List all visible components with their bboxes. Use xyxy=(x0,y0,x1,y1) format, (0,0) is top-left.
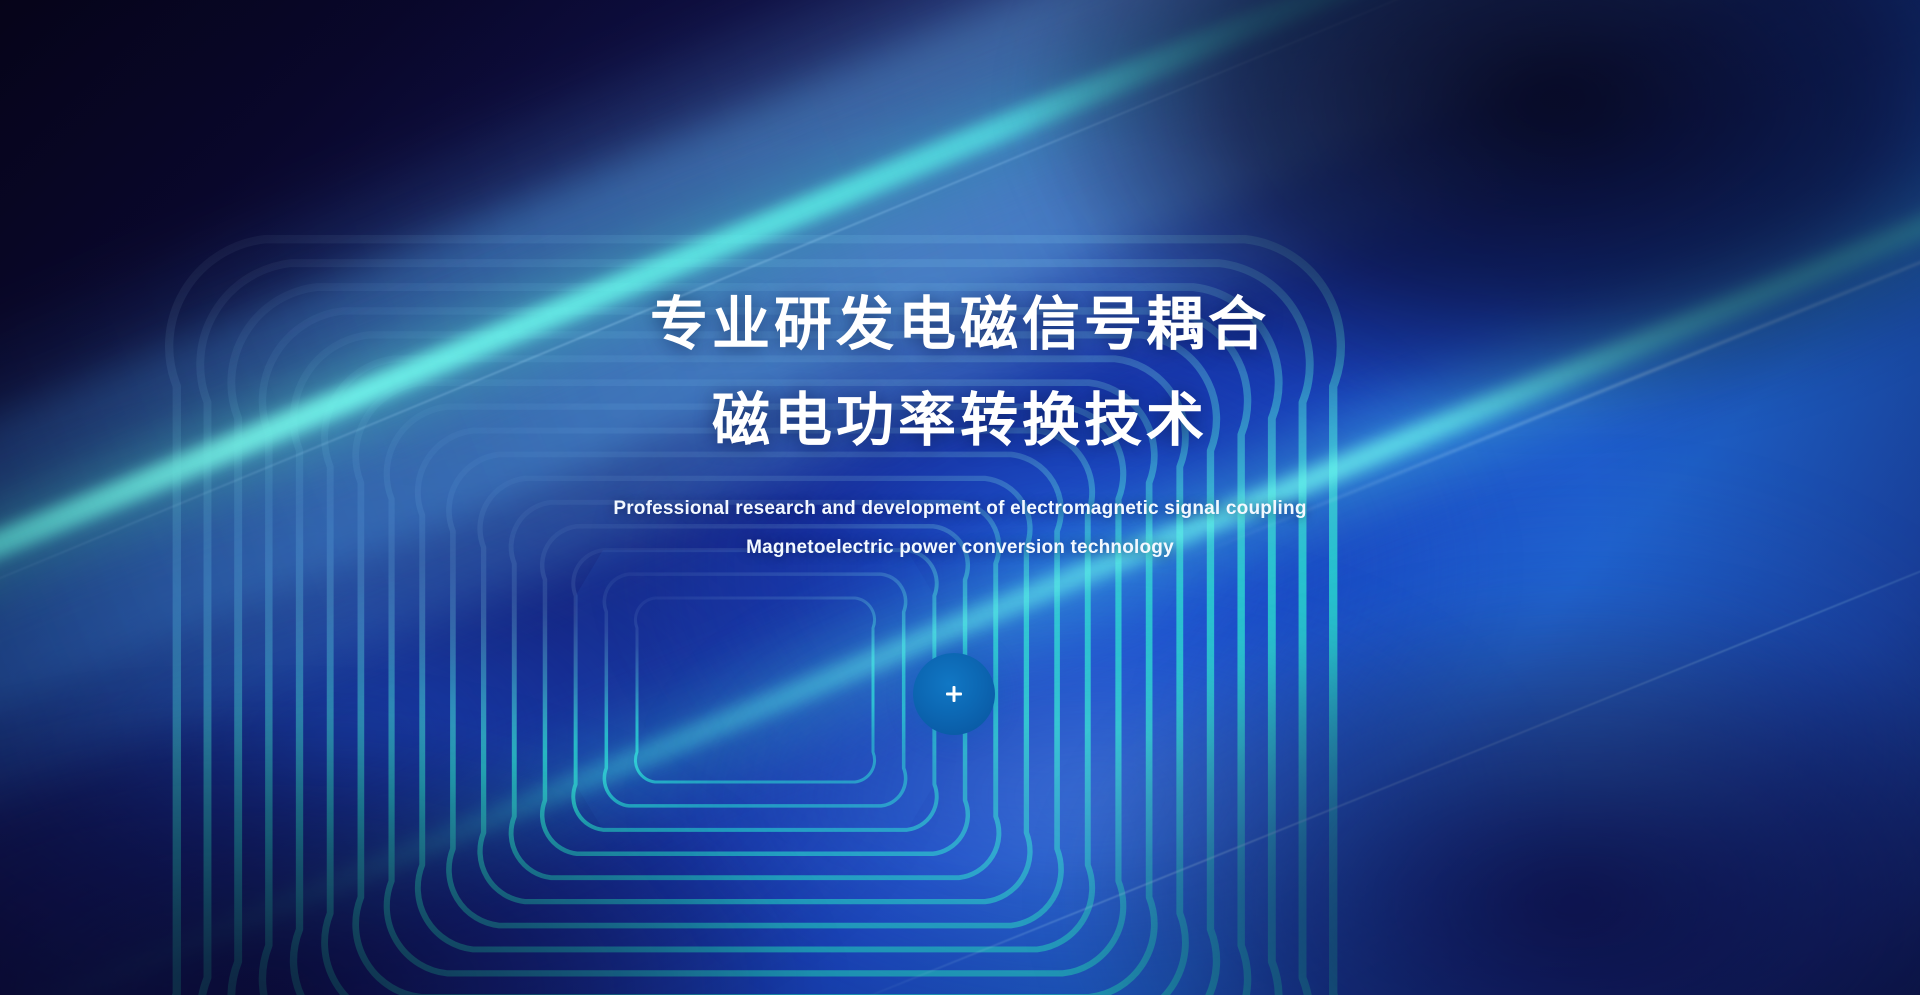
headline-line-2: 磁电功率转换技术 xyxy=(0,392,1920,450)
plus-icon xyxy=(943,683,965,705)
headline-line-1: 专业研发电磁信号耦合 xyxy=(0,296,1920,354)
hero-banner: 专业研发电磁信号耦合 磁电功率转换技术 Professional researc… xyxy=(0,0,1920,995)
subheadline-line-1: Professional research and development of… xyxy=(0,499,1920,518)
hero-content: 专业研发电磁信号耦合 磁电功率转换技术 Professional researc… xyxy=(0,0,1920,995)
expand-plus-button[interactable] xyxy=(913,653,995,735)
subheadline-line-2: Magnetoelectric power conversion technol… xyxy=(0,538,1920,557)
